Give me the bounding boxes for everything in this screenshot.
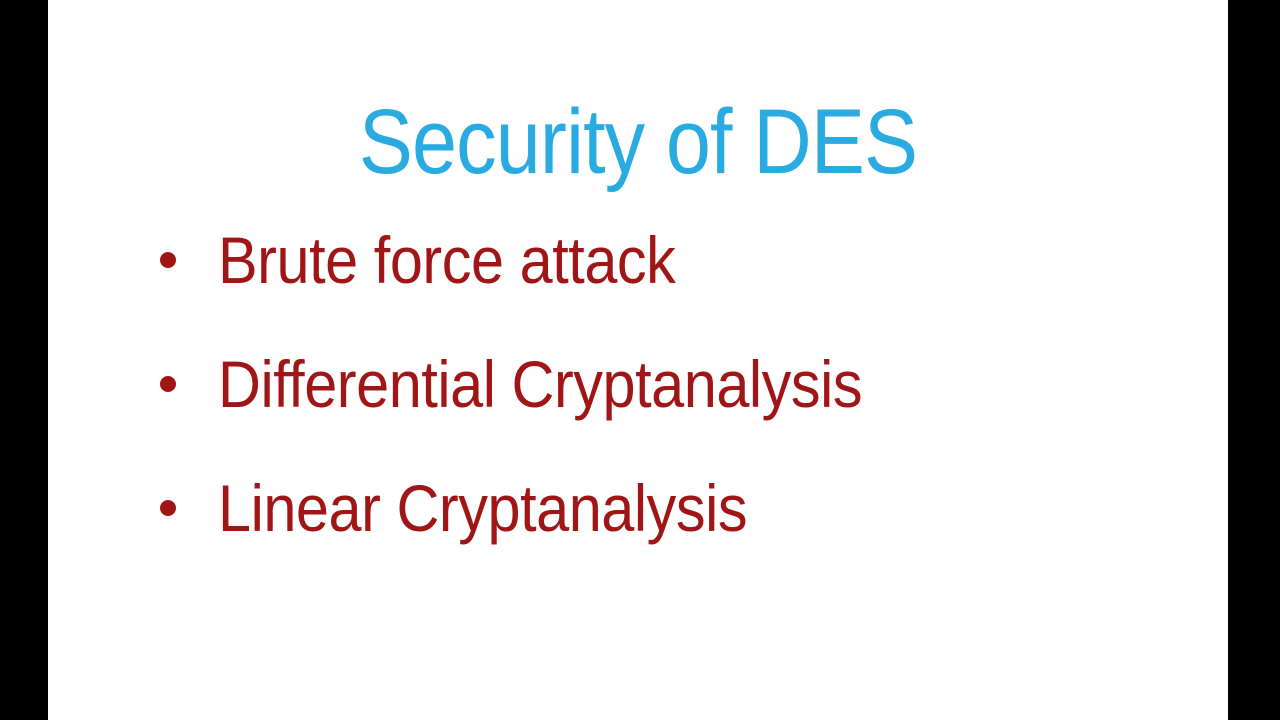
bullet-item-label: Linear Cryptanalysis <box>218 473 747 543</box>
list-item: Linear Cryptanalysis <box>108 446 1208 570</box>
list-item: Differential Cryptanalysis <box>108 322 1208 446</box>
slide-title: Security of DES <box>119 90 1157 194</box>
list-item: Brute force attack <box>108 198 1208 322</box>
presentation-slide-screen: Security of DES Brute force attack Diffe… <box>0 0 1280 720</box>
bullet-item-label: Brute force attack <box>218 225 675 295</box>
bullet-item-label: Differential Cryptanalysis <box>218 349 862 419</box>
slide-canvas: Security of DES Brute force attack Diffe… <box>48 0 1228 720</box>
bullet-dot-icon <box>160 500 176 516</box>
bullet-list: Brute force attack Differential Cryptana… <box>108 198 1208 570</box>
letterbox-bar-right <box>1228 0 1280 720</box>
bullet-dot-icon <box>160 376 176 392</box>
letterbox-bar-left <box>0 0 48 720</box>
bullet-dot-icon <box>160 252 176 268</box>
